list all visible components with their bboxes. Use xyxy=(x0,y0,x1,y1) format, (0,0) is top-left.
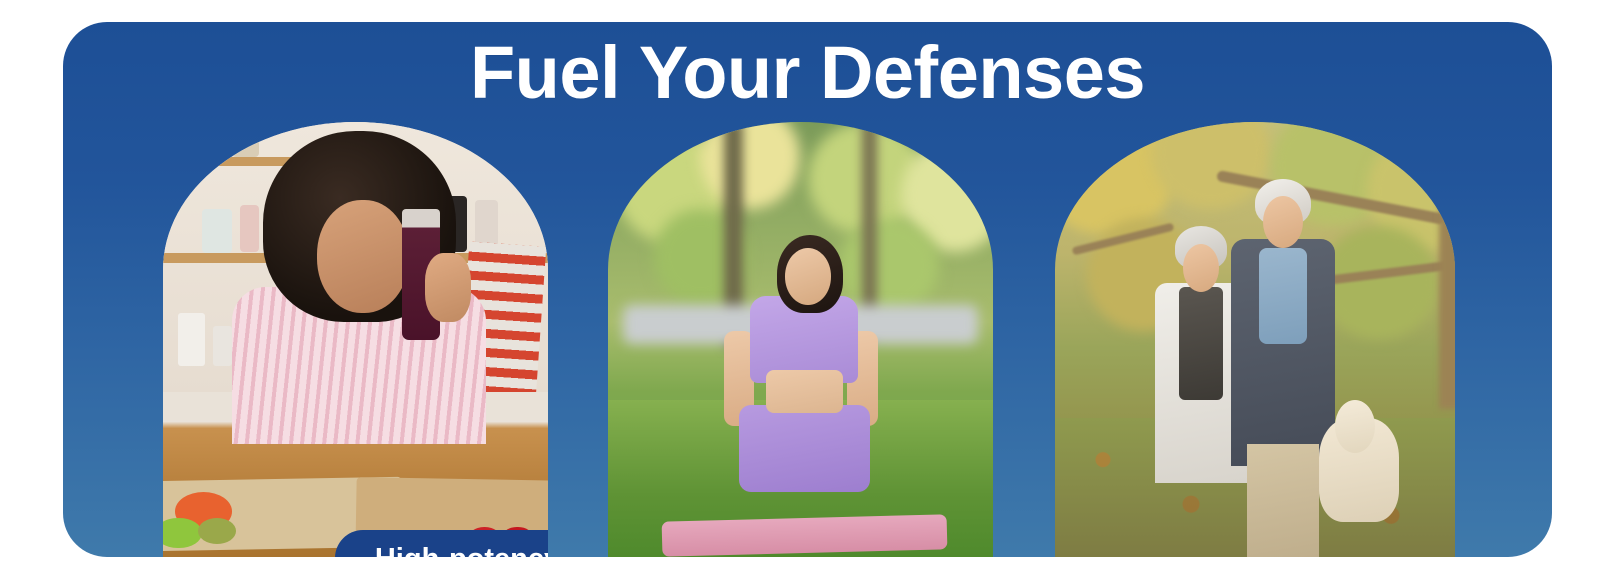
caption-line-1: High-potency xyxy=(375,541,548,557)
photo-yoga-park xyxy=(608,122,993,557)
caption-pill-antioxidant: High-potency antioxidan* xyxy=(335,530,548,557)
panel-antioxidant[interactable]: High-potency antioxidan* xyxy=(163,122,548,557)
photo-kitchen-smoothie xyxy=(163,122,548,557)
panel-muscular[interactable]: Muscular activity & bone support* xyxy=(1055,122,1455,557)
promo-banner: Fuel Your Defenses xyxy=(63,22,1552,557)
panel-inflammatory[interactable]: Healthy inflammatory response* xyxy=(608,122,993,557)
page-title: Fuel Your Defenses xyxy=(63,22,1552,122)
photo-senior-couple-walk xyxy=(1055,122,1455,557)
